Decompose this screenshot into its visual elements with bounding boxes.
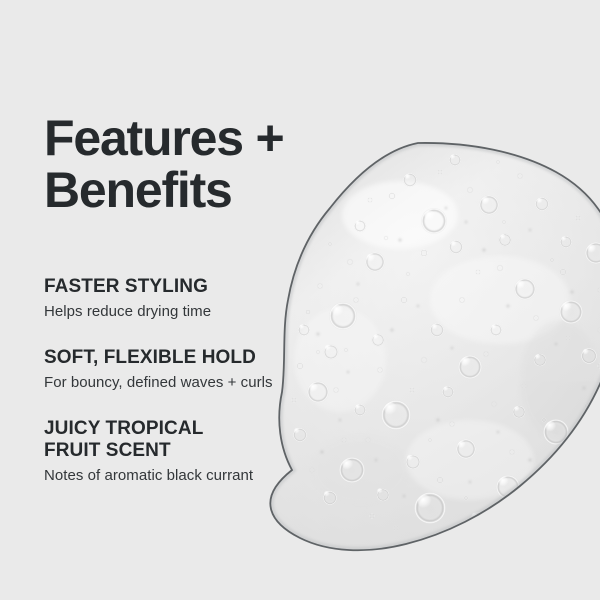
feature-description: Notes of aromatic black currant [44, 466, 344, 485]
feature-description: For bouncy, defined waves + curls [44, 373, 344, 392]
feature-title: FASTER STYLING [44, 276, 344, 298]
product-feature-panel: Features + Benefits FASTER STYLING Helps… [0, 0, 600, 600]
feature-title: JUICY TROPICAL FRUIT SCENT [44, 418, 344, 462]
feature-description: Helps reduce drying time [44, 302, 344, 321]
feature-list: FASTER STYLING Helps reduce drying time … [44, 276, 344, 485]
feature-title: SOFT, FLEXIBLE HOLD [44, 347, 344, 369]
feature-item-soft-flexible-hold: SOFT, FLEXIBLE HOLD For bouncy, defined … [44, 347, 344, 392]
feature-item-faster-styling: FASTER STYLING Helps reduce drying time [44, 276, 344, 321]
feature-item-juicy-tropical-fruit-scent: JUICY TROPICAL FRUIT SCENT Notes of arom… [44, 418, 344, 485]
text-column: Features + Benefits FASTER STYLING Helps… [44, 0, 344, 600]
page-title: Features + Benefits [44, 112, 284, 216]
